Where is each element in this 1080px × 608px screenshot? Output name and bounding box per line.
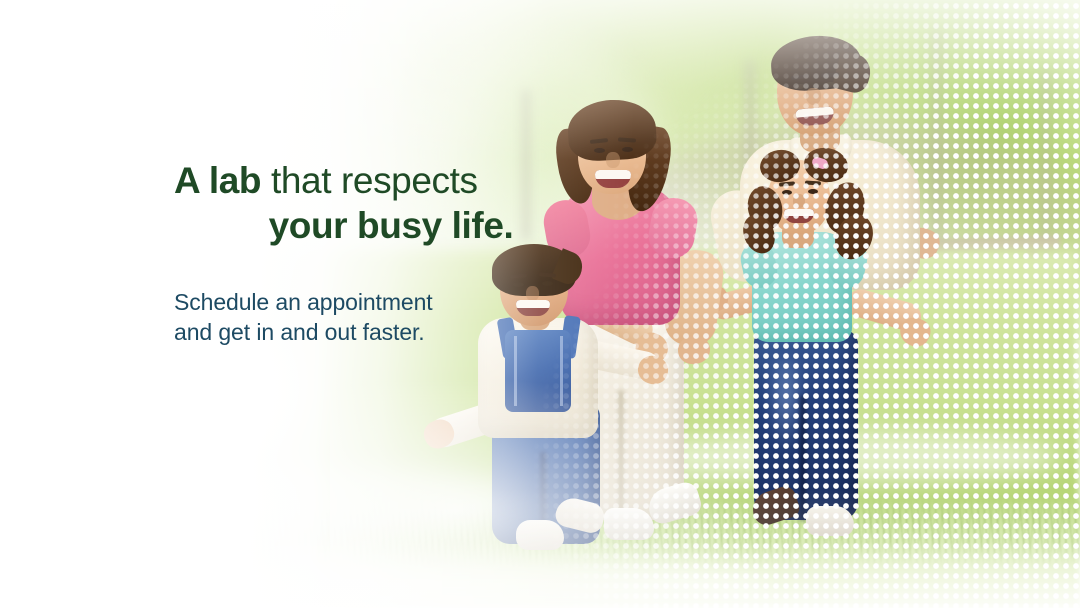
daughter-eye [808, 189, 818, 194]
headline-line1-bold: A lab [174, 160, 261, 201]
mother-pants-seam [618, 390, 624, 520]
headline-line2: your busy life. [174, 203, 644, 248]
daughter-eye [782, 190, 792, 195]
father-nose [806, 88, 821, 105]
promo-banner: A lab that respects your busy life. Sche… [0, 0, 1080, 608]
subheadline-line2: and get in and out faster. [174, 317, 644, 347]
daughter-shoe [806, 506, 854, 536]
son-shoe [516, 520, 564, 550]
daughter-nose [793, 194, 805, 208]
copy-block: A lab that respects your busy life. Sche… [174, 158, 644, 347]
subheadline-line1: Schedule an appointment [174, 287, 644, 317]
daughter-teeth [784, 209, 814, 216]
headline-line1-rest: that respects [261, 160, 478, 201]
mother-shoe [604, 508, 654, 540]
headline: A lab that respects your busy life. [174, 158, 644, 248]
subheadline: Schedule an appointment and get in and o… [174, 287, 644, 347]
mother-eye [594, 148, 605, 153]
daughter-mouth [784, 209, 814, 223]
mother-eye [622, 147, 633, 152]
daughter-jeans-seam [800, 396, 806, 520]
